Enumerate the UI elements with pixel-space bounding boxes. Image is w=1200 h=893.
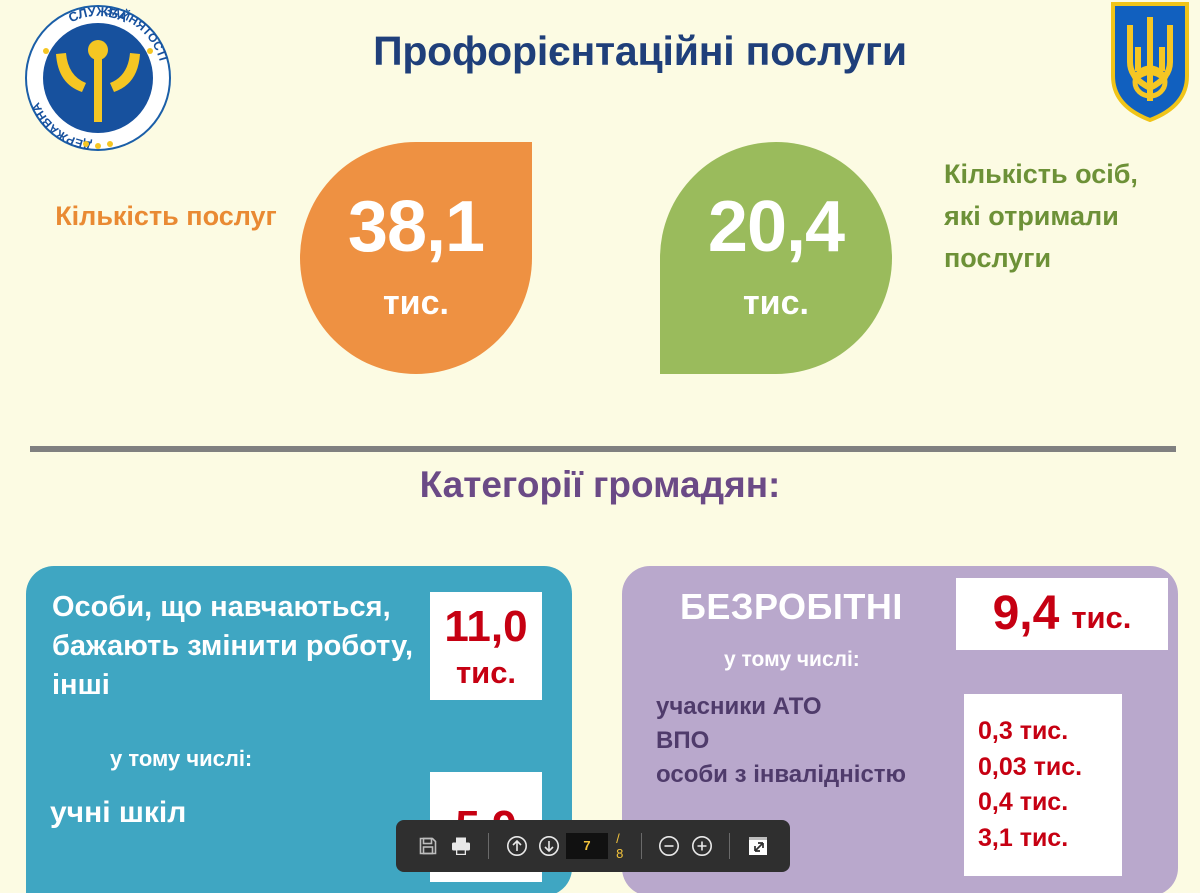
ukraine-coat-of-arms-icon [1110, 2, 1190, 122]
list-item-value: 0,4 тис. [978, 785, 1068, 821]
blue-card-total-number: 11,0 [444, 605, 527, 649]
list-item-value: 0,03 тис. [978, 750, 1082, 786]
list-item: ВПО [656, 724, 956, 758]
page-total-label: / 8 [616, 831, 630, 861]
purple-card-title: БЕЗРОБІТНІ [680, 586, 903, 628]
blue-card-title: Особи, що навчаються, бажають змінити ро… [52, 588, 432, 705]
list-item-value: 0,3 тис. [978, 714, 1068, 750]
floppy-disk-icon[interactable] [412, 829, 445, 863]
purple-card-subtitle: у тому числі: [724, 648, 860, 672]
purple-card-item-values-box: 0,3 тис. 0,03 тис. 0,4 тис. 3,1 тис. [964, 694, 1122, 876]
persons-count-label: Кількість осіб, які отримали послуги [944, 154, 1174, 280]
plus-circle-icon[interactable] [686, 829, 719, 863]
state-employment-service-logo: ЗАЙНЯТОСТІ ДЕРЖАВНА СЛУЖБА [18, 2, 178, 154]
purple-card-total-value-box: 9,4 тис. [956, 578, 1168, 650]
services-count-unit: тис. [383, 284, 449, 323]
page-title: Профорієнтаційні послуги [200, 28, 1080, 75]
persons-count-blob: 20,4 тис. [660, 142, 892, 374]
list-item-value: 3,1 тис. [978, 821, 1068, 857]
list-item: учасники АТО [656, 690, 956, 724]
printer-icon[interactable] [445, 829, 478, 863]
toolbar-separator [729, 833, 730, 859]
blue-card-total-unit: тис. [456, 657, 516, 688]
section-divider [30, 446, 1176, 452]
blue-card-subtitle: у тому числі: [110, 746, 252, 772]
arrow-up-circle-icon[interactable] [500, 829, 533, 863]
pdf-toolbar: 7 / 8 [396, 820, 790, 872]
persons-count-value: 20,4 [708, 193, 844, 261]
services-count-blob: 38,1 тис. [300, 142, 532, 374]
services-count-value: 38,1 [348, 193, 484, 261]
page-number-input[interactable]: 7 [566, 833, 608, 859]
purple-card-total-number: 9,4 [993, 590, 1060, 638]
section-heading: Категорії громадян: [0, 464, 1200, 506]
toolbar-separator [488, 833, 489, 859]
arrow-down-circle-icon[interactable] [533, 829, 566, 863]
blue-card-item-label: учні шкіл [50, 796, 186, 830]
services-count-label: Кількість послуг [52, 196, 280, 238]
purple-card-item-list: учасники АТО ВПО особи з інвалідністю [656, 690, 956, 792]
blue-card-total-value-box: 11,0 тис. [430, 592, 542, 700]
slide-page: ЗАЙНЯТОСТІ ДЕРЖАВНА СЛУЖБА Профорієнтаці… [0, 0, 1200, 893]
persons-count-unit: тис. [743, 284, 809, 323]
minus-circle-icon[interactable] [653, 829, 686, 863]
purple-card-total-unit: тис. [1071, 602, 1131, 633]
list-item: особи з інвалідністю [656, 758, 956, 792]
fit-page-icon[interactable] [741, 829, 774, 863]
toolbar-separator [641, 833, 642, 859]
